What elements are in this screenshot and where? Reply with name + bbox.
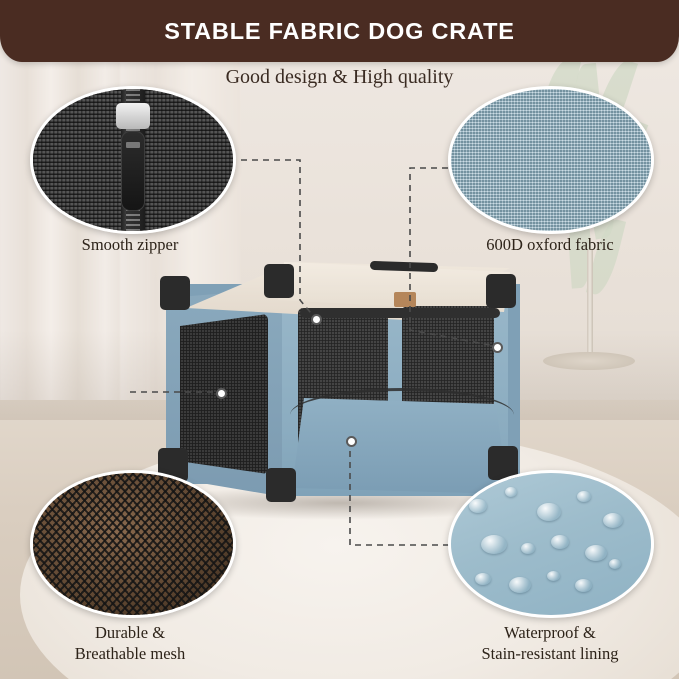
plant-stand <box>587 250 593 360</box>
zipper-closeup-icon <box>30 86 236 234</box>
label-waterproof-lining-line1: Waterproof & <box>430 622 670 643</box>
plant-stand-base <box>543 352 635 370</box>
crate-corner-top-right <box>486 274 516 308</box>
subtitle: Good design & High quality <box>0 66 679 89</box>
hotspot-zipper <box>311 314 322 325</box>
mesh-closeup-icon <box>30 470 236 618</box>
hotspot-oxford <box>492 342 503 353</box>
label-waterproof-lining-line2: Stain-resistant lining <box>430 643 670 664</box>
water-droplets-closeup-icon <box>448 470 654 618</box>
crate-corner-top-mid <box>264 264 294 298</box>
crate-top-zipper-line <box>300 308 500 318</box>
crate-brand-tag <box>394 292 416 307</box>
label-breathable-mesh-line1: Durable & <box>14 622 246 643</box>
label-oxford-fabric: 600D oxford fabric <box>430 234 670 255</box>
hotspot-mesh <box>216 388 227 399</box>
hotspot-water <box>346 436 357 447</box>
label-smooth-zipper: Smooth zipper <box>10 234 250 255</box>
label-waterproof-lining: Waterproof & Stain-resistant lining <box>430 622 670 664</box>
label-breathable-mesh: Durable & Breathable mesh <box>14 622 246 664</box>
page-title: STABLE FABRIC DOG CRATE <box>164 18 514 45</box>
crate-corner-top-left <box>160 276 190 310</box>
crate-corner-bottom-mid <box>266 468 296 502</box>
product-infographic: STABLE FABRIC DOG CRATE Good design & Hi… <box>0 0 679 679</box>
fabric-weave-closeup-icon <box>448 86 654 234</box>
dog-crate-product <box>150 248 540 506</box>
label-breathable-mesh-line2: Breathable mesh <box>14 643 246 664</box>
header-banner: STABLE FABRIC DOG CRATE <box>0 0 679 62</box>
